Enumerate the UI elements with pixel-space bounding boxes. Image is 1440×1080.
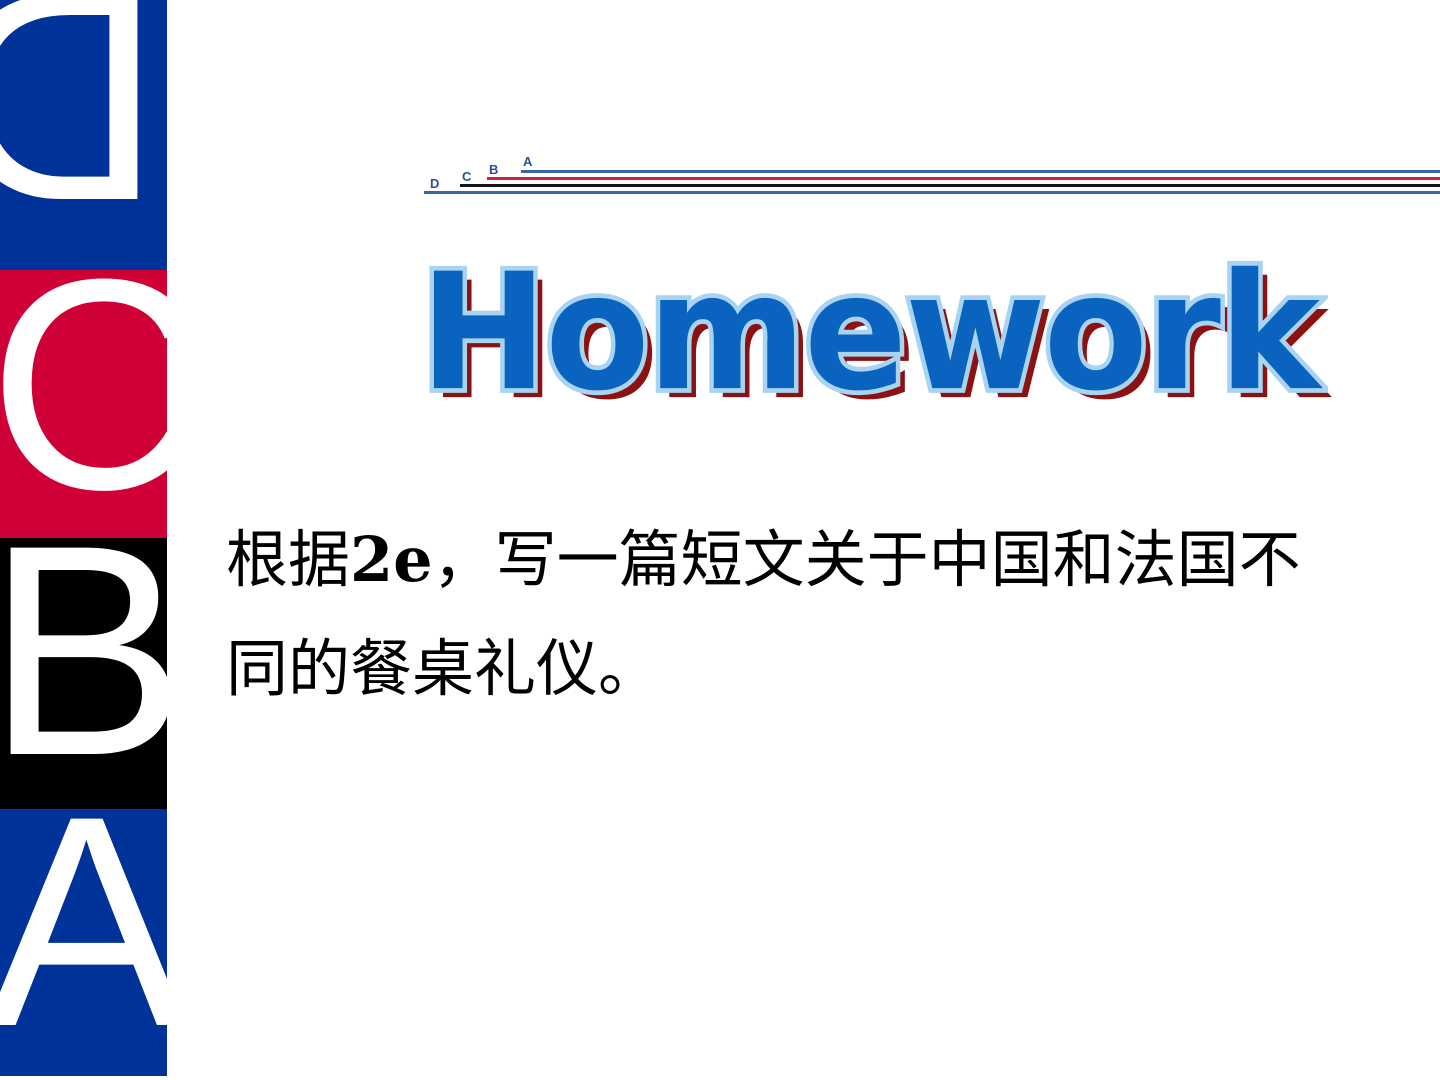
sidebar-block-b: B: [0, 538, 167, 809]
title-fill-layer: Homework: [420, 232, 1120, 433]
rule-line-d: [424, 191, 1440, 194]
rule-label-c: C: [462, 170, 471, 183]
rule-line-a: [521, 170, 1440, 173]
sidebar-letter-b: B: [0, 538, 167, 800]
rule-line-c: [460, 184, 1440, 187]
sidebar-block-a: A: [0, 809, 167, 1076]
sidebar-letter-c: C: [0, 270, 167, 534]
slide-canvas: D C B A A B C D Homework Homework Homewo…: [0, 0, 1440, 1080]
body-text-suffix: ，写一篇短文关于中国和法: [433, 523, 1177, 596]
sidebar-letter-a: A: [0, 809, 167, 1071]
rule-label-b: B: [489, 163, 498, 176]
rule-label-d: D: [430, 177, 439, 190]
rule-group: A B C D: [0, 0, 1440, 210]
slide-title: Homework Homework Homework: [420, 238, 1120, 428]
body-text-prefix: 根据: [226, 523, 350, 596]
sidebar-block-c: C: [0, 270, 167, 538]
rule-line-b: [487, 177, 1440, 180]
rule-label-a: A: [523, 155, 532, 168]
body-text-latin: 2e: [350, 523, 433, 596]
body-paragraph: 根据2e，写一篇短文关于中国和法国不同的餐桌礼仪。: [226, 505, 1361, 723]
